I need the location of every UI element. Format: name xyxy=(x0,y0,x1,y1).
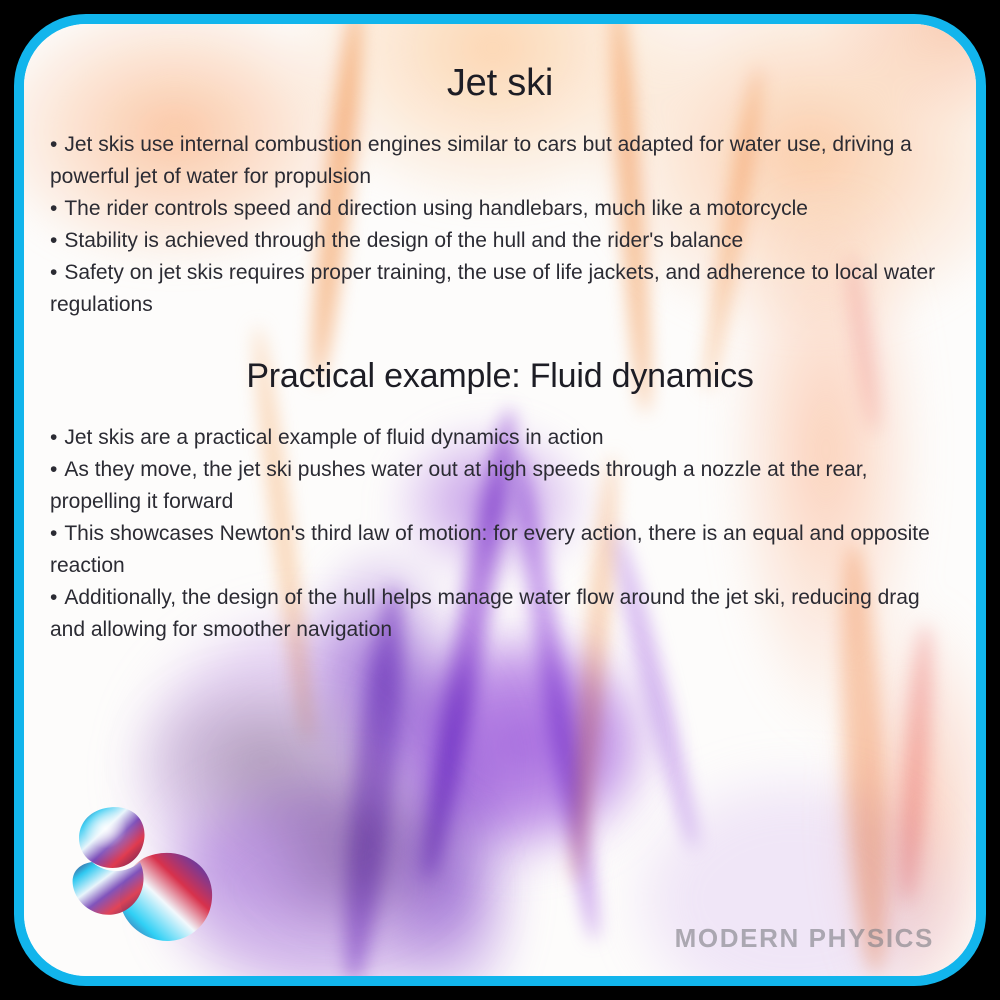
section-heading: Practical example: Fluid dynamics xyxy=(50,357,950,396)
list-item: •This showcases Newton's third law of mo… xyxy=(50,518,950,582)
list-item: •Stability is achieved through the desig… xyxy=(50,225,950,257)
list-item: •Additionally, the design of the hull he… xyxy=(50,582,950,646)
slide-content: Jet ski •Jet skis use internal combustio… xyxy=(24,24,976,976)
bullet-marker-icon: • xyxy=(50,197,57,220)
slide-card: Jet ski •Jet skis use internal combustio… xyxy=(14,14,986,986)
list-item: •Jet skis use internal combustion engine… xyxy=(50,129,950,193)
list-item-text: The rider controls speed and direction u… xyxy=(64,197,808,220)
list-item-text: This showcases Newton's third law of mot… xyxy=(50,522,930,577)
bullet-marker-icon: • xyxy=(50,458,57,481)
bullet-marker-icon: • xyxy=(50,133,57,156)
bullet-marker-icon: • xyxy=(50,261,57,284)
list-item-text: Safety on jet skis requires proper train… xyxy=(50,261,935,316)
bullet-marker-icon: • xyxy=(50,586,57,609)
list-item-text: Jet skis use internal combustion engines… xyxy=(50,133,912,188)
bullet-marker-icon: • xyxy=(50,426,57,449)
list-item: •Safety on jet skis requires proper trai… xyxy=(50,257,950,321)
list-item-text: Additionally, the design of the hull hel… xyxy=(50,586,920,641)
page-title: Jet ski xyxy=(50,62,950,105)
intro-bullet-list: •Jet skis use internal combustion engine… xyxy=(50,129,950,321)
list-item-text: Stability is achieved through the design… xyxy=(64,229,743,252)
list-item: •Jet skis are a practical example of flu… xyxy=(50,422,950,454)
list-item: •As they move, the jet ski pushes water … xyxy=(50,454,950,518)
bullet-marker-icon: • xyxy=(50,229,57,252)
section-bullet-list: •Jet skis are a practical example of flu… xyxy=(50,422,950,646)
bullet-marker-icon: • xyxy=(50,522,57,545)
list-item-text: Jet skis are a practical example of flui… xyxy=(64,426,603,449)
list-item-text: As they move, the jet ski pushes water o… xyxy=(50,458,868,513)
list-item: •The rider controls speed and direction … xyxy=(50,193,950,225)
brand-watermark: MODERN PHYSICS xyxy=(675,923,934,954)
